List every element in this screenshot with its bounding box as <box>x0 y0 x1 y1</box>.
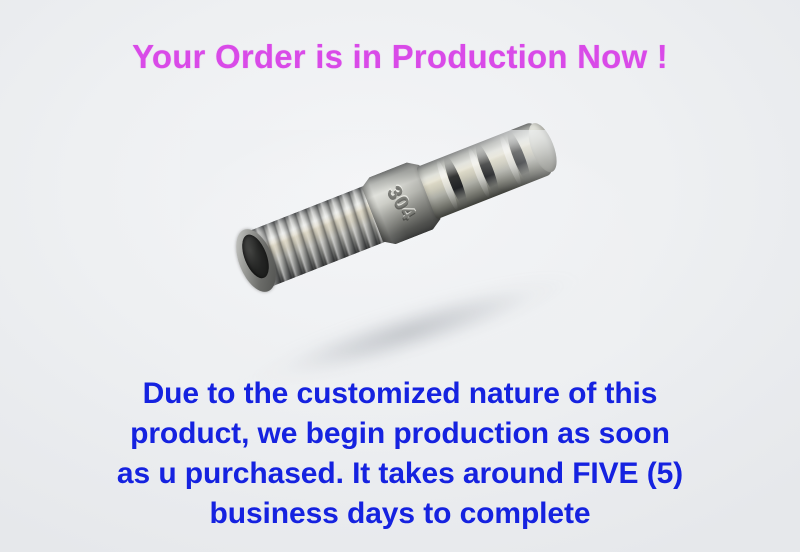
headline-text: Your Order is in Production Now ! <box>0 40 800 73</box>
production-message: Due to the customized nature of this pro… <box>0 374 800 534</box>
message-line-1: Due to the customized nature of this <box>0 374 800 414</box>
product-photo: 304 <box>180 130 640 390</box>
notice-image: Your Order is in Production Now ! 304 <box>0 0 800 552</box>
message-line-3: as u purchased. It takes around FIVE (5) <box>0 454 800 494</box>
message-line-4: business days to complete <box>0 494 800 534</box>
message-line-2: product, we begin production as soon <box>0 414 800 454</box>
